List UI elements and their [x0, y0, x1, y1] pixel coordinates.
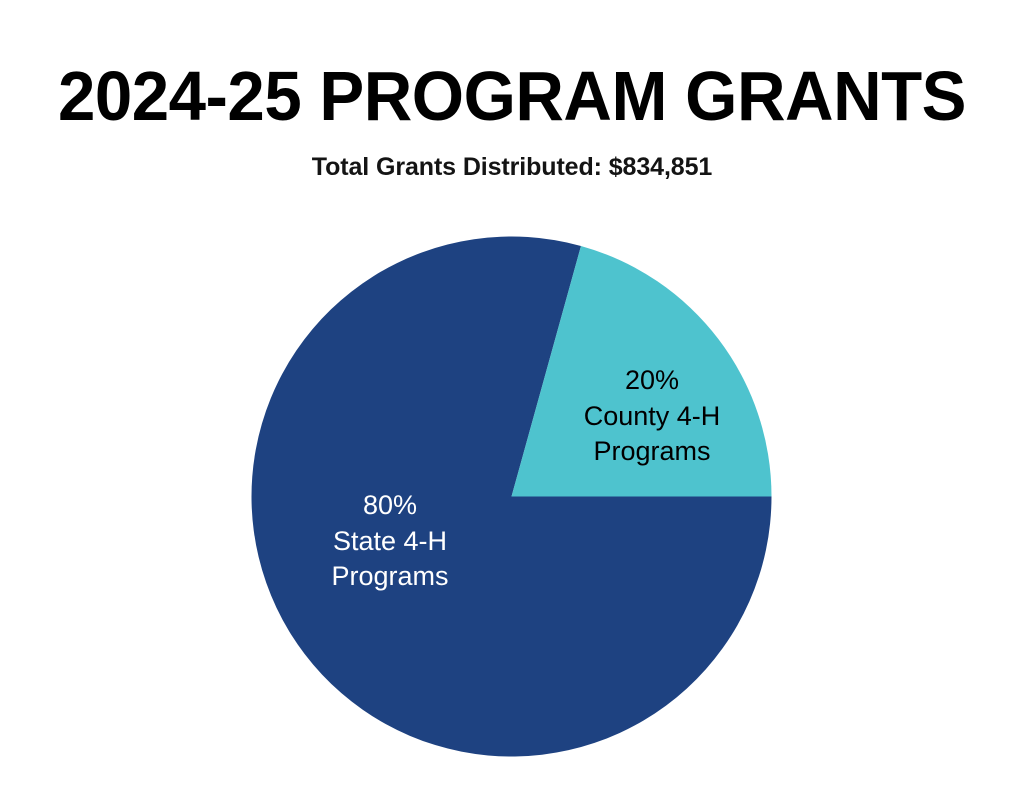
program-grants-infographic: 2024-25 PROGRAM GRANTS Total Grants Dist… — [0, 0, 1024, 791]
pie-slice-name-line2-county-4h: Programs — [584, 434, 721, 470]
page-title: 2024-25 PROGRAM GRANTS — [20, 0, 1003, 131]
pie-slice-label-state-4h: 80% State 4-H Programs — [331, 488, 448, 595]
pie-slice-name-line1-county-4h: County 4-H — [584, 399, 721, 435]
pie-slice-state-4h[interactable] — [252, 237, 772, 757]
pie-slice-percent-state-4h: 80% — [331, 488, 448, 524]
header-block: 2024-25 PROGRAM GRANTS Total Grants Dist… — [0, 0, 1024, 182]
pie-slice-name-line1-state-4h: State 4-H — [331, 524, 448, 560]
pie-slice-name-line2-state-4h: Programs — [331, 559, 448, 595]
chart-subtitle-total-grants: Total Grants Distributed: $834,851 — [0, 131, 1024, 182]
pie-slice-label-county-4h: 20% County 4-H Programs — [584, 363, 721, 470]
pie-slice-percent-county-4h: 20% — [584, 363, 721, 399]
